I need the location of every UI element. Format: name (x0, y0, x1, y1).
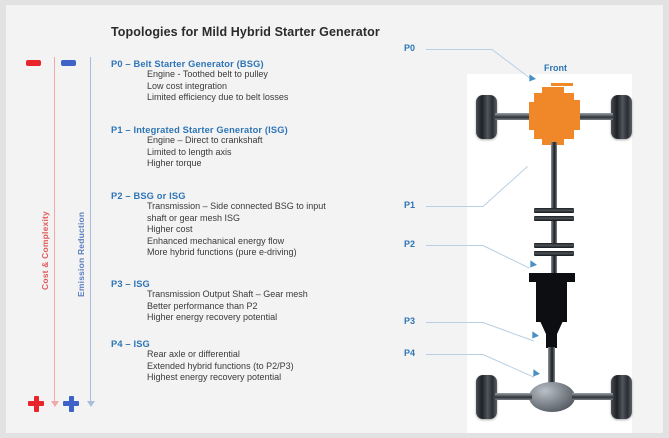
rear-left-wheel (476, 375, 497, 419)
topology-block-p0: P0 – Belt Starter Generator (BSG) Engine… (111, 59, 288, 104)
list-item: Transmission – Side connected BSG to inp… (111, 201, 326, 213)
topology-block-p4: P4 – ISG Rear axle or differential Exten… (111, 339, 294, 384)
transmission-flange (529, 273, 575, 282)
list-item: Higher cost (111, 224, 326, 236)
topology-bullets-p4: Rear axle or differential Extended hybri… (111, 349, 294, 384)
emission-axis-label: Emission Reduction (76, 212, 86, 297)
driveshaft-upper (551, 142, 557, 208)
topology-heading-p2: P2 – BSG or ISG (111, 191, 326, 201)
transmission-output-neck (546, 334, 557, 348)
clutch-p2-upper (534, 243, 574, 248)
driveshaft-middle (551, 221, 557, 243)
list-item: Engine – Direct to crankshaft (111, 135, 288, 147)
topology-block-p3: P3 – ISG Transmission Output Shaft – Gea… (111, 279, 308, 324)
cost-axis-arrowhead (51, 401, 59, 407)
emission-plus-sign-vertical (69, 396, 74, 412)
list-item: Extended hybrid functions (to P2/P3) (111, 361, 294, 373)
topology-heading-p1: P1 – Integrated Starter Generator (ISG) (111, 125, 288, 135)
driveshaft-lower (551, 256, 557, 274)
list-item: Limited to length axis (111, 147, 288, 159)
list-item: Better performance than P2 (111, 301, 308, 313)
topology-block-p1: P1 – Integrated Starter Generator (ISG) … (111, 125, 288, 170)
page-title: Topologies for Mild Hybrid Starter Gener… (111, 25, 380, 39)
emission-axis-arrowhead (87, 401, 95, 407)
list-item: shaft or gear mesh ISG (111, 213, 326, 225)
rear-right-wheel (611, 375, 632, 419)
front-right-wheel (611, 95, 632, 139)
rear-propeller-shaft (548, 347, 555, 385)
topology-bullets-p1: Engine – Direct to crankshaft Limited to… (111, 135, 288, 170)
cost-axis-line (54, 57, 55, 402)
topology-heading-p4: P4 – ISG (111, 339, 294, 349)
cost-plus-sign-vertical (34, 396, 39, 412)
list-item: Rear axle or differential (111, 349, 294, 361)
engine-block-top-lobe (542, 87, 564, 95)
emission-axis-line (90, 57, 91, 402)
topology-heading-p3: P3 – ISG (111, 279, 308, 289)
orientation-label-front: Front (544, 63, 567, 73)
topology-bullets-p3: Transmission Output Shaft – Gear mesh Be… (111, 289, 308, 324)
slide-canvas: Cost & Complexity Emission Reduction Top… (6, 5, 663, 433)
list-item: Limited efficiency due to belt losses (111, 92, 288, 104)
engine-block-left-lobe (529, 102, 536, 130)
list-item: Highest energy recovery potential (111, 372, 294, 384)
list-item: Low cost integration (111, 81, 288, 93)
callout-leader-p1-horizontal (426, 206, 483, 207)
engine-block-right-lobe (572, 100, 580, 130)
clutch-p1-upper (534, 208, 574, 213)
callout-leader-p2-horizontal (426, 245, 483, 246)
callout-leader-p4-horizontal (426, 354, 483, 355)
list-item: More hybrid functions (pure e-driving) (111, 247, 326, 259)
callout-label-p2: P2 (404, 239, 415, 249)
list-item: Higher energy recovery potential (111, 312, 308, 324)
list-item: Higher torque (111, 158, 288, 170)
topology-bullets-p2: Transmission – Side connected BSG to inp… (111, 201, 326, 259)
topology-bullets-p0: Engine - Toothed belt to pulley Low cost… (111, 69, 288, 104)
engine-belt-pulley (551, 83, 573, 86)
emission-minus-sign (61, 60, 76, 66)
vehicle-topology-diagram: Front Rear (396, 30, 661, 425)
callout-label-p4: P4 (404, 348, 415, 358)
engine-block-main (534, 93, 574, 139)
rear-differential (529, 382, 575, 412)
callout-label-p1: P1 (404, 200, 415, 210)
list-item: Transmission Output Shaft – Gear mesh (111, 289, 308, 301)
callout-label-p3: P3 (404, 316, 415, 326)
cost-minus-sign (26, 60, 41, 66)
callout-leader-p0-horizontal (426, 49, 492, 50)
callout-label-p0: P0 (404, 43, 415, 53)
list-item: Enhanced mechanical energy flow (111, 236, 326, 248)
callout-leader-p3-horizontal (426, 322, 483, 323)
topology-block-p2: P2 – BSG or ISG Transmission – Side conn… (111, 191, 326, 259)
cost-axis-label: Cost & Complexity (40, 211, 50, 290)
transmission-housing (536, 282, 567, 322)
front-left-wheel (476, 95, 497, 139)
list-item: Engine - Toothed belt to pulley (111, 69, 288, 81)
topology-heading-p0: P0 – Belt Starter Generator (BSG) (111, 59, 288, 69)
rear-axle-left (495, 393, 532, 400)
rear-axle-right (572, 393, 613, 400)
